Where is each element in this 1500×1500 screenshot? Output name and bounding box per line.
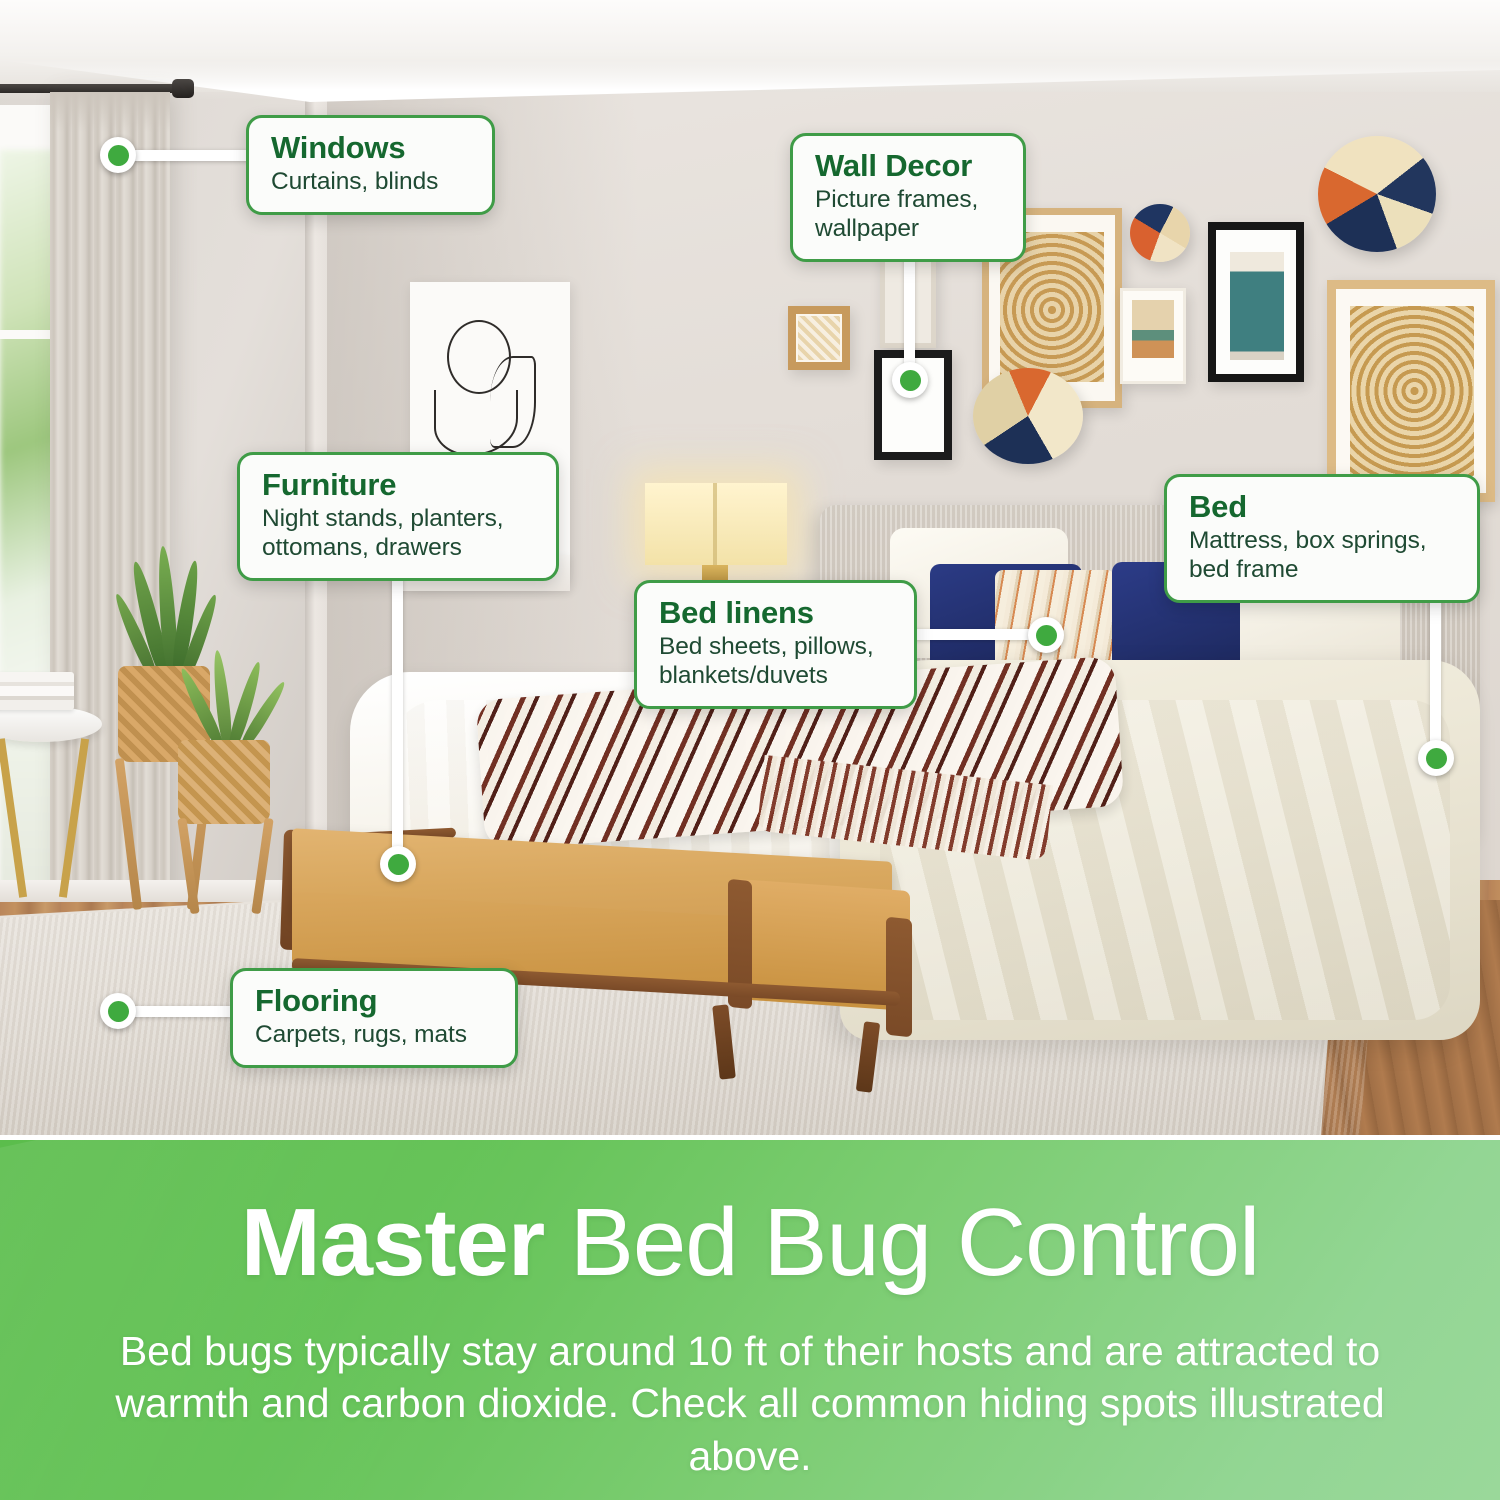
- hotspot-dot-bed-linens[interactable]: [1028, 617, 1064, 653]
- hotspot-dot-bed[interactable]: [1418, 740, 1454, 776]
- wall-art-taj: [1132, 300, 1174, 358]
- banner-title-light: Bed Bug Control: [544, 1189, 1259, 1296]
- callout-flooring-title: Flooring: [255, 984, 493, 1018]
- callout-bed-linens-subtitle: Bed sheets, pillows, blankets/duvets: [659, 633, 892, 691]
- callout-wall-decor-subtitle: Picture frames, wallpaper: [815, 186, 1001, 244]
- callout-furniture-title: Furniture: [262, 468, 534, 502]
- bedroom-scene: Windows Curtains, blinds Wall Decor Pict…: [0, 0, 1500, 1135]
- wall-basket-medium: [973, 368, 1083, 464]
- stacked-books: [0, 672, 74, 710]
- callout-flooring-subtitle: Carpets, rugs, mats: [255, 1021, 493, 1050]
- leader-line-flooring: [118, 1006, 246, 1017]
- callout-bed[interactable]: Bed Mattress, box springs, bed frame: [1164, 474, 1480, 603]
- hotspot-dot-furniture[interactable]: [380, 846, 416, 882]
- planter-basket-short: [178, 740, 270, 824]
- hotspot-dot-flooring-core: [108, 1001, 129, 1022]
- wall-basket-large-navy: [1318, 136, 1436, 252]
- hotspot-dot-wall-decor[interactable]: [892, 362, 928, 398]
- hotspot-dot-furniture-core: [388, 854, 409, 875]
- hotspot-dot-bed-core: [1426, 748, 1447, 769]
- callout-windows-subtitle: Curtains, blinds: [271, 168, 470, 197]
- leader-line-bed-linens: [900, 629, 1048, 640]
- callout-wall-decor-title: Wall Decor: [815, 149, 1001, 183]
- wall-art-blue-door: [1230, 252, 1284, 360]
- wall-art-spiral-2: [1350, 306, 1474, 476]
- curtain-rod-finial: [172, 79, 194, 98]
- callout-bed-linens[interactable]: Bed linens Bed sheets, pillows, blankets…: [634, 580, 917, 709]
- curtain-header: [50, 92, 170, 132]
- infographic-page: Windows Curtains, blinds Wall Decor Pict…: [0, 0, 1500, 1500]
- baseboard: [0, 880, 320, 902]
- callout-bed-subtitle: Mattress, box springs, bed frame: [1189, 527, 1455, 585]
- callout-bed-linens-title: Bed linens: [659, 596, 892, 630]
- leader-line-windows: [118, 150, 253, 161]
- leader-line-bed: [1430, 586, 1441, 766]
- wall-frame-rattan-square-inner: [798, 316, 840, 360]
- hotspot-dot-wall-decor-core: [900, 370, 921, 391]
- hotspot-dot-windows-core: [108, 145, 129, 166]
- callout-windows[interactable]: Windows Curtains, blinds: [246, 115, 495, 215]
- callout-furniture[interactable]: Furniture Night stands, planters, ottoma…: [237, 452, 559, 581]
- callout-windows-title: Windows: [271, 131, 470, 165]
- hotspot-dot-windows[interactable]: [100, 137, 136, 173]
- callout-wall-decor[interactable]: Wall Decor Picture frames, wallpaper: [790, 133, 1026, 262]
- callout-furniture-subtitle: Night stands, planters, ottomans, drawer…: [262, 505, 534, 563]
- callout-bed-title: Bed: [1189, 490, 1455, 524]
- banner-body-text: Bed bugs typically stay around 10 ft of …: [90, 1325, 1410, 1482]
- banner-title-bold: Master: [241, 1189, 544, 1296]
- line-art-stroke-3: [490, 356, 536, 448]
- hotspot-dot-bed-linens-core: [1036, 625, 1057, 646]
- table-lamp-shade-seam: [713, 483, 717, 565]
- banner-title: Master Bed Bug Control: [0, 1195, 1500, 1291]
- hotspot-dot-flooring[interactable]: [100, 993, 136, 1029]
- wall-basket-small: [1130, 204, 1190, 262]
- leader-line-furniture: [392, 560, 403, 870]
- callout-flooring[interactable]: Flooring Carpets, rugs, mats: [230, 968, 518, 1068]
- curtain: [50, 92, 170, 912]
- bench-arm-right-frame-outer: [886, 917, 912, 1038]
